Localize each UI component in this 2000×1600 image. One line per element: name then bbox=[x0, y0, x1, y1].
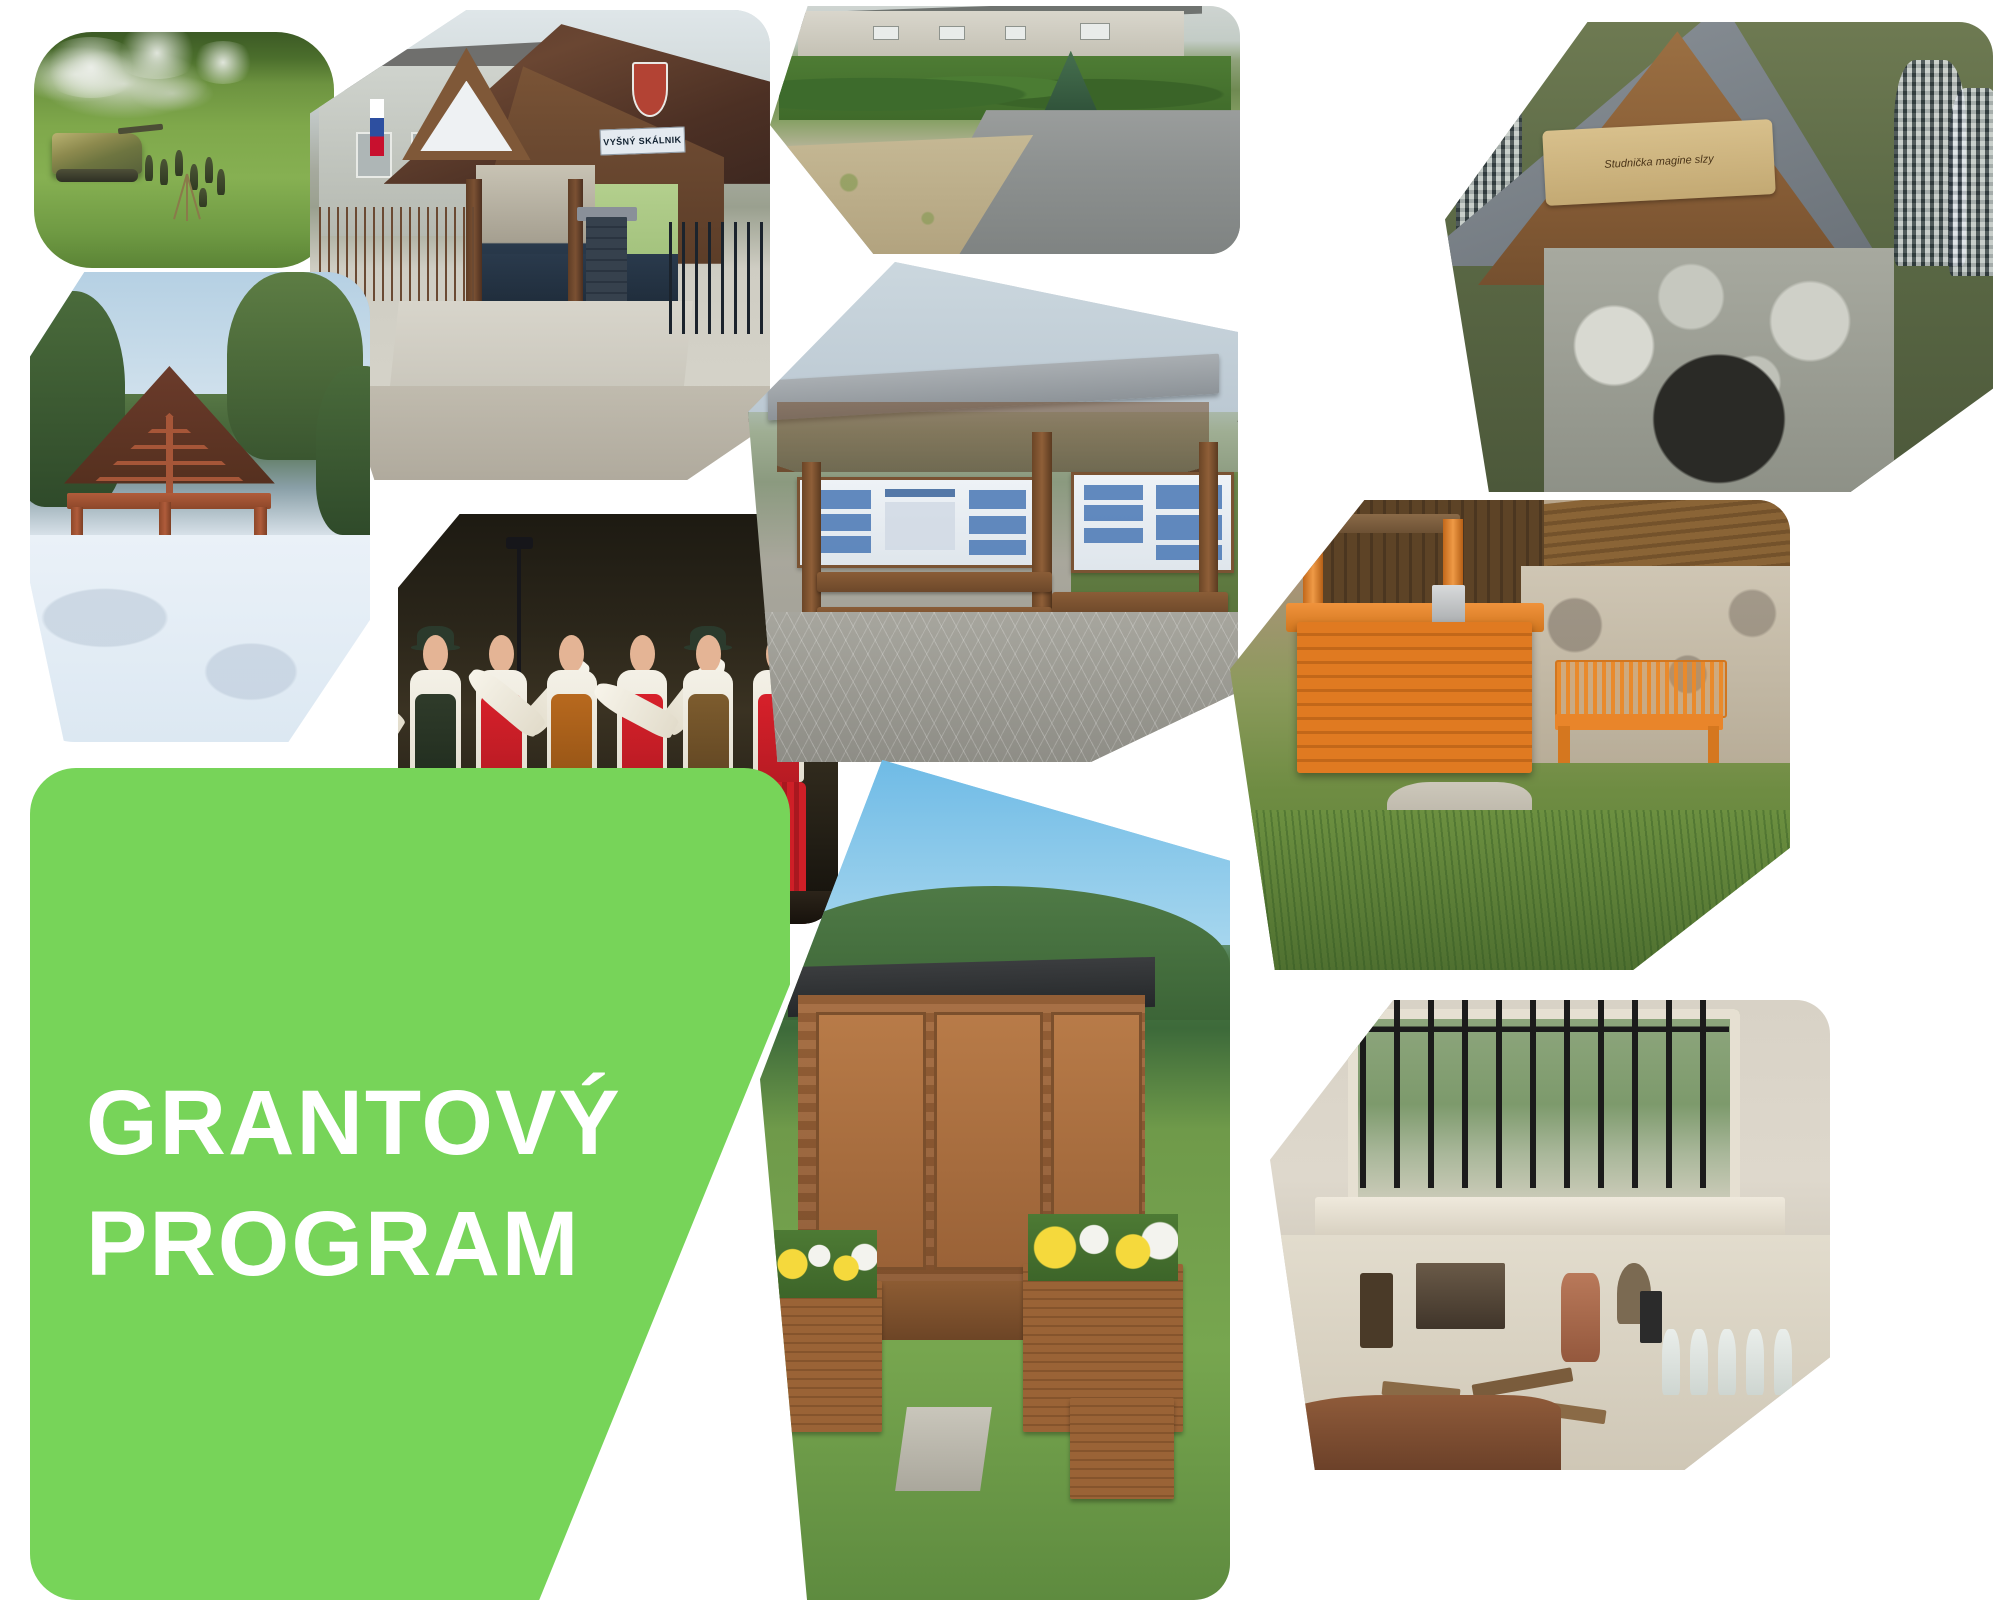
photo-tile-info-board-shelter bbox=[748, 262, 1238, 762]
village-nameplate-sign: VYŠNÝ SKÁLNIK bbox=[599, 126, 685, 154]
photo-tile-orange-well bbox=[1230, 500, 1790, 970]
title-banner-panel bbox=[30, 768, 790, 1600]
spring-wooden-sign: Studnička magine slzy bbox=[1542, 119, 1776, 206]
photo-tile-museum-window bbox=[1270, 1000, 1830, 1470]
garden-bench bbox=[1555, 660, 1723, 763]
photo-tile-winter-pavilion bbox=[30, 272, 370, 742]
information-board-left bbox=[797, 477, 1038, 568]
photo-collage-poster: VYŠNÝ SKÁLNIK Studnička magine slzy bbox=[0, 0, 2000, 1600]
window-bars-icon bbox=[1360, 1000, 1730, 1188]
photo-tile-village-road bbox=[770, 6, 1240, 254]
photo-tile-spring-shelter: Studnička magine slzy bbox=[1445, 22, 1993, 492]
spring-sign-text: Studnička magine slzy bbox=[1604, 154, 1714, 172]
photo-tile-military-reenactment bbox=[34, 32, 334, 268]
photo-tile-community-house: VYŠNÝ SKÁLNIK bbox=[310, 10, 770, 480]
